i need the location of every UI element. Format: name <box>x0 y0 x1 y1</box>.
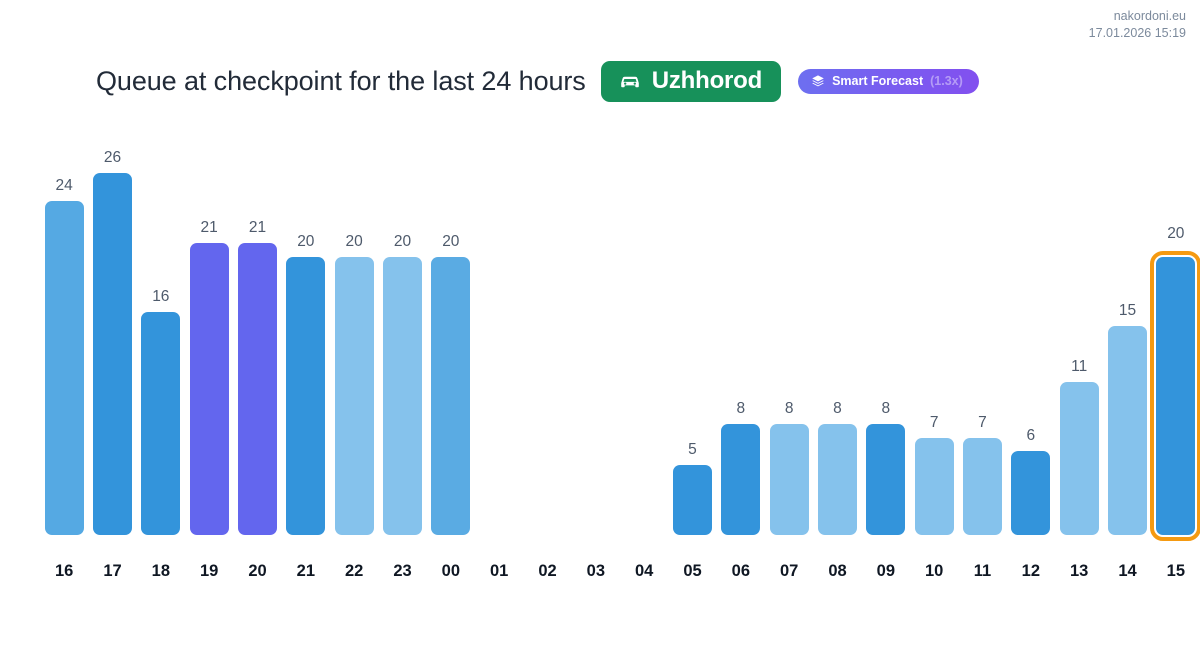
bar-slot: 11 <box>1055 130 1103 535</box>
bar-value-label: 21 <box>238 219 277 237</box>
car-icon <box>617 71 643 91</box>
watermark-datetime: 17.01.2026 15:19 <box>1089 25 1186 42</box>
x-axis-tick: 12 <box>1007 562 1055 581</box>
watermark: nakordoni.eu 17.01.2026 15:19 <box>1089 8 1186 42</box>
bar-value-label: 20 <box>383 233 422 251</box>
chart-plot-area: 24261621212020202058888776111520 <box>40 130 1200 535</box>
x-axis-tick: 20 <box>233 562 281 581</box>
bar-value-label: 20 <box>431 233 470 251</box>
bar-slot: 20 <box>427 130 475 535</box>
x-axis-tick: 19 <box>185 562 233 581</box>
chart-bar[interactable] <box>431 257 470 535</box>
x-axis-tick: 02 <box>523 562 571 581</box>
bar-slot: 21 <box>185 130 233 535</box>
x-axis-tick: 09 <box>862 562 910 581</box>
layers-icon <box>811 74 825 88</box>
bar-value-label: 11 <box>1060 358 1099 376</box>
header: Queue at checkpoint for the last 24 hour… <box>96 58 1180 104</box>
bar-value-label: 20 <box>286 233 325 251</box>
chart-bar[interactable] <box>286 257 325 535</box>
bar-value-label: 7 <box>915 414 954 432</box>
bar-value-label: 24 <box>45 177 84 195</box>
bar-slot: 7 <box>958 130 1006 535</box>
bar-slot: 20 <box>378 130 426 535</box>
forecast-label: Smart Forecast <box>832 74 923 88</box>
bar-slot: 24 <box>40 130 88 535</box>
bar-value-label: 21 <box>190 219 229 237</box>
chart-x-axis: 1617181920212223000102030405060708091011… <box>40 562 1200 592</box>
bar-slot: 21 <box>233 130 281 535</box>
bar-slot: 26 <box>88 130 136 535</box>
bar-value-label: 7 <box>963 414 1002 432</box>
bar-slot: 8 <box>765 130 813 535</box>
bar-slot <box>475 130 523 535</box>
bar-slot: 20 <box>330 130 378 535</box>
queue-bar-chart: 24261621212020202058888776111520 1617181… <box>40 130 1200 600</box>
bar-value-label: 26 <box>93 149 132 167</box>
chart-bar[interactable] <box>190 243 229 535</box>
chart-bar[interactable] <box>963 438 1002 535</box>
chart-bar[interactable] <box>141 312 180 535</box>
chart-bar[interactable] <box>1060 382 1099 535</box>
chart-bar[interactable] <box>1156 257 1195 535</box>
chart-bar[interactable] <box>45 201 84 535</box>
smart-forecast-badge[interactable]: Smart Forecast (1.3x) <box>798 69 979 94</box>
x-axis-tick: 23 <box>378 562 426 581</box>
x-axis-tick: 06 <box>717 562 765 581</box>
chart-bar[interactable] <box>335 257 374 535</box>
x-axis-tick: 00 <box>427 562 475 581</box>
bar-value-label: 6 <box>1011 427 1050 445</box>
chart-bar[interactable] <box>238 243 277 535</box>
x-axis-tick: 13 <box>1055 562 1103 581</box>
chart-bar[interactable] <box>721 424 760 535</box>
bar-slot <box>572 130 620 535</box>
bar-slot: 15 <box>1103 130 1151 535</box>
x-axis-tick: 16 <box>40 562 88 581</box>
forecast-multiplier: (1.3x) <box>930 74 963 88</box>
bar-slot: 20 <box>1152 130 1200 535</box>
watermark-site: nakordoni.eu <box>1089 8 1186 25</box>
x-axis-tick: 03 <box>572 562 620 581</box>
chart-bar[interactable] <box>1011 451 1050 535</box>
checkpoint-badge[interactable]: Uzhhorod <box>601 61 781 102</box>
checkpoint-name: Uzhhorod <box>652 67 762 95</box>
bar-slot: 20 <box>282 130 330 535</box>
x-axis-tick: 11 <box>958 562 1006 581</box>
chart-bar[interactable] <box>866 424 905 535</box>
x-axis-tick: 07 <box>765 562 813 581</box>
bar-value-label: 16 <box>141 288 180 306</box>
bar-value-label: 15 <box>1108 302 1147 320</box>
bar-value-label: 8 <box>818 400 857 418</box>
x-axis-tick: 10 <box>910 562 958 581</box>
bar-slot: 5 <box>668 130 716 535</box>
bar-slot: 8 <box>862 130 910 535</box>
chart-bar[interactable] <box>93 173 132 535</box>
chart-bar[interactable] <box>673 465 712 535</box>
chart-bar[interactable] <box>818 424 857 535</box>
x-axis-tick: 01 <box>475 562 523 581</box>
chart-bar[interactable] <box>770 424 809 535</box>
x-axis-tick: 05 <box>668 562 716 581</box>
bar-slot <box>620 130 668 535</box>
x-axis-tick: 21 <box>282 562 330 581</box>
bar-slot: 16 <box>137 130 185 535</box>
bar-value-label: 20 <box>335 233 374 251</box>
bar-slot: 6 <box>1007 130 1055 535</box>
bar-value-label: 8 <box>721 400 760 418</box>
chart-bar[interactable] <box>383 257 422 535</box>
x-axis-tick: 04 <box>620 562 668 581</box>
bar-value-label: 8 <box>866 400 905 418</box>
x-axis-tick: 08 <box>813 562 861 581</box>
bar-value-label: 5 <box>673 441 712 459</box>
bar-value-label: 8 <box>770 400 809 418</box>
bar-slot: 8 <box>717 130 765 535</box>
x-axis-tick: 14 <box>1103 562 1151 581</box>
chart-bar[interactable] <box>915 438 954 535</box>
x-axis-tick: 22 <box>330 562 378 581</box>
x-axis-tick: 18 <box>137 562 185 581</box>
page-title: Queue at checkpoint for the last 24 hour… <box>96 66 586 97</box>
x-axis-tick: 15 <box>1152 562 1200 581</box>
bar-value-label: 20 <box>1156 225 1195 243</box>
chart-bar[interactable] <box>1108 326 1147 535</box>
bar-slot: 7 <box>910 130 958 535</box>
x-axis-tick: 17 <box>88 562 136 581</box>
bar-slot: 8 <box>813 130 861 535</box>
bar-slot <box>523 130 571 535</box>
